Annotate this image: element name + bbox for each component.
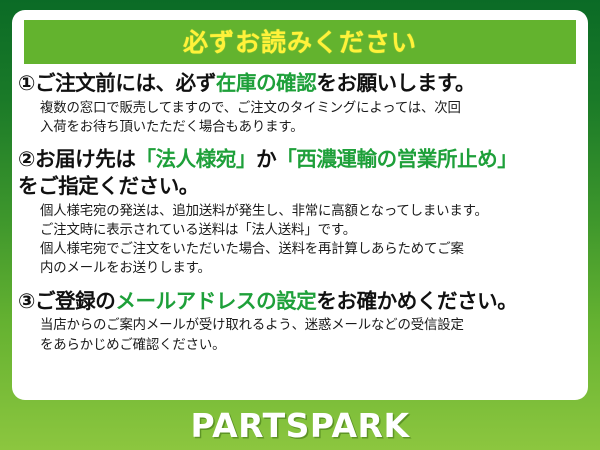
- item-2-body-line-1: 個人様宅宛の発送は、追加送料が発生し、非常に高額となってしまいます。: [40, 202, 580, 221]
- notice-item-2: ②お届け先は「法人様宛」か「西濃運輸の営業所止め」をご指定ください。 個人様宅宛…: [18, 146, 580, 278]
- item-2-body-line-3: 個人様宅宛でご注文をいただいた場合、送料を再計算しあらためてご案: [40, 240, 580, 259]
- page-title: 必ずお読みください: [183, 30, 417, 55]
- item-3-body-line-2: をあらかじめご確認ください。: [40, 336, 580, 355]
- item-number-3: ③: [18, 289, 35, 313]
- item-1-body-line-2: 入荷をお待ち頂いたただく場合もあります。: [40, 118, 580, 137]
- notice-card: 必ずお読みください ①ご注文前には、必ず在庫の確認をお願いします。 複数の窓口で…: [12, 10, 588, 400]
- notice-item-3-body: 当店からのご案内メールが受け取れるよう、迷惑メールなどの受信設定 をあらかじめご…: [18, 316, 580, 355]
- notice-item-2-heading: ②お届け先は「法人様宛」か「西濃運輸の営業所止め」をご指定ください。: [18, 146, 580, 199]
- item-2-body-line-4: 内のメールをお送りします。: [40, 259, 580, 278]
- brand-footer: PARTSPARK: [0, 400, 600, 450]
- item-2-heading-part-3: か: [256, 147, 276, 171]
- item-3-heading-part-3: をお確かめください。: [316, 289, 517, 313]
- item-2-heading-part-1: お届け先は: [35, 147, 136, 171]
- brand-logo-text: PARTSPARK: [190, 406, 409, 445]
- notice-title-bar: 必ずお読みください: [24, 20, 576, 64]
- notice-item-3: ③ご登録のメールアドレスの設定をお確かめください。 当店からのご案内メールが受け…: [18, 288, 580, 355]
- item-2-body-line-2: ご注文時に表示されている送料は「法人送料」です。: [40, 221, 580, 240]
- item-3-heading-highlight: メールアドレスの設定: [115, 289, 316, 313]
- item-1-heading-part-1: ご注文前には、必ず: [35, 71, 216, 95]
- notice-item-1-heading: ①ご注文前には、必ず在庫の確認をお願いします。: [18, 70, 580, 97]
- notice-item-2-body: 個人様宅宛の発送は、追加送料が発生し、非常に高額となってしまいます。 ご注文時に…: [18, 202, 580, 279]
- item-1-heading-highlight: 在庫の確認: [216, 71, 317, 95]
- item-2-heading-highlight-2: 「西濃運輸の営業所止め」: [276, 147, 517, 171]
- item-1-body-line-1: 複数の窓口で販売してますので、ご注文のタイミングによっては、次回: [40, 99, 580, 118]
- notice-item-1-body: 複数の窓口で販売してますので、ご注文のタイミングによっては、次回 入荷をお待ち頂…: [18, 99, 580, 138]
- notice-content: ①ご注文前には、必ず在庫の確認をお願いします。 複数の窓口で販売してますので、ご…: [12, 70, 588, 364]
- notice-poster: 必ずお読みください ①ご注文前には、必ず在庫の確認をお願いします。 複数の窓口で…: [0, 0, 600, 450]
- item-3-heading-part-1: ご登録の: [35, 289, 115, 313]
- item-number-1: ①: [18, 71, 35, 95]
- notice-item-1: ①ご注文前には、必ず在庫の確認をお願いします。 複数の窓口で販売してますので、ご…: [18, 70, 580, 137]
- notice-item-3-heading: ③ご登録のメールアドレスの設定をお確かめください。: [18, 288, 580, 315]
- item-2-heading-highlight-1: 「法人様宛」: [135, 147, 256, 171]
- item-number-2: ②: [18, 147, 35, 171]
- item-1-heading-part-3: をお願いします。: [316, 71, 475, 95]
- item-2-heading-line-2: をご指定ください。: [18, 173, 580, 200]
- item-3-body-line-1: 当店からのご案内メールが受け取れるよう、迷惑メールなどの受信設定: [40, 316, 580, 335]
